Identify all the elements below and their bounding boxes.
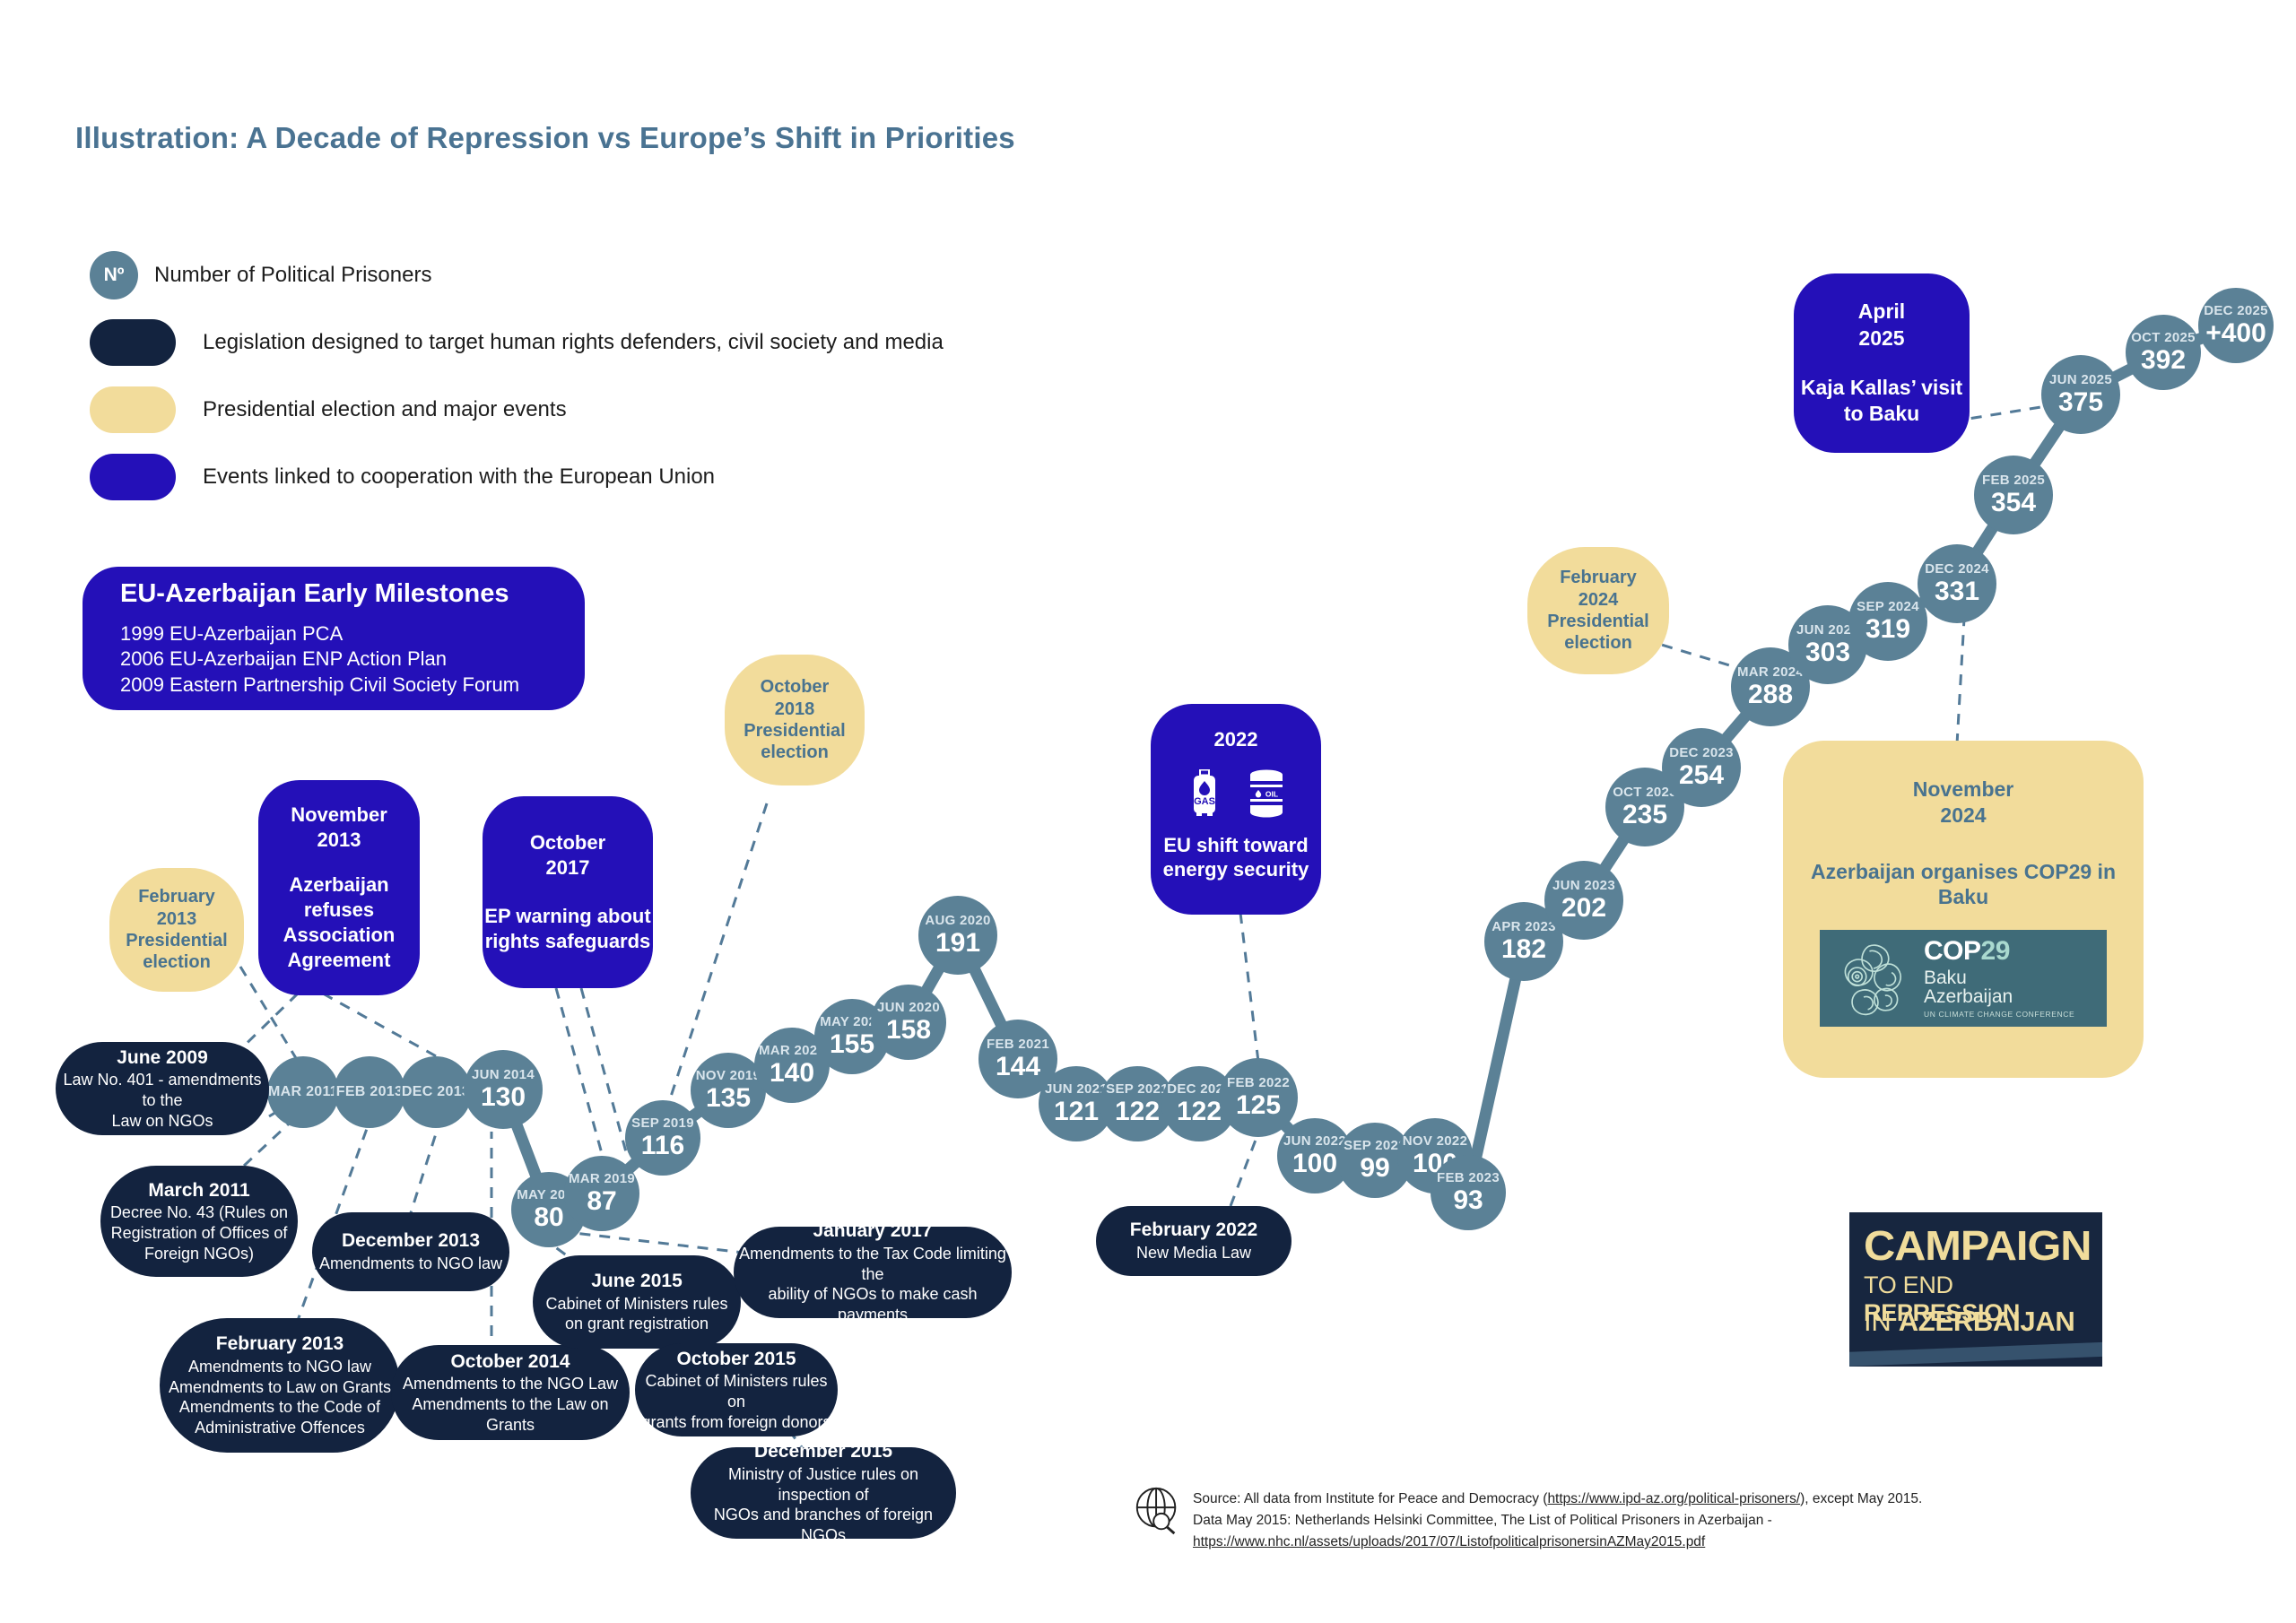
source-link-ipd[interactable]: https://www.ipd-az.org/political-prisone… [1547,1491,1800,1506]
card-date-line1: February [138,886,215,907]
node-date: NOV 2019 [696,1069,761,1082]
legislation-title: December 2015 [754,1440,892,1463]
node-date: SEP 2024 [1857,600,1919,613]
node-value: +400 [2205,320,2266,347]
data-node-mar-2019: MAR 201987 [564,1156,639,1231]
legend-label-prisoners: Number of Political Prisoners [154,263,431,288]
card-october-2015: October 2015 Cabinet of Ministers rules … [635,1343,838,1436]
node-value: 202 [1561,895,1606,922]
node-date: MAR 2019 [569,1172,635,1185]
legislation-line-1: Decree No. 43 (Rules on [110,1202,288,1223]
node-value: 122 [1115,1098,1160,1125]
card-body-line2: Association [283,923,396,948]
eu-milestone-line-1: 1999 EU-Azerbaijan PCA [120,621,343,647]
legislation-line-2: Registration of Offices of [111,1223,288,1244]
card-date-line2: 2017 [546,855,590,881]
node-date: JUN 2020 [877,1001,940,1014]
node-value: 135 [706,1085,751,1112]
node-date: NOV 2022 [1403,1134,1467,1148]
node-value: 354 [1991,490,2036,516]
page-title: Illustration: A Decade of Repression vs … [75,121,1015,155]
node-date: JUN 2022 [1283,1134,1346,1148]
legislation-line-2: Amendments to Law on Grants [169,1377,391,1398]
node-value: 80 [534,1204,563,1231]
node-date: MAR 2024 [1737,665,1804,679]
card-date-line1: October [761,676,830,698]
card-feb-2024-election: February 2024 Presidential election [1527,547,1669,674]
legislation-line-4: Administrative Offences [195,1418,365,1438]
node-value: 331 [1935,578,1979,605]
legislation-title: October 2014 [450,1350,570,1374]
node-value: 125 [1236,1092,1281,1119]
data-node-mar-2011: MAR 2011 [267,1056,339,1128]
eu-milestones-title: EU-Azerbaijan Early Milestones [120,579,509,609]
node-value: 130 [481,1084,526,1111]
card-date-line1: October [530,830,605,855]
legislation-title: March 2011 [148,1179,249,1202]
node-date: OCT 2025 [2131,331,2196,344]
legislation-title: June 2015 [591,1270,683,1293]
card-body-line2: election [143,951,211,973]
oil-barrel-icon: OIL [1247,768,1286,819]
legend-label-legislation: Legislation designed to target human rig… [203,330,944,355]
node-date: FEB 2022 [1227,1076,1290,1089]
legislation-title: June 2009 [117,1046,208,1070]
legislation-line-1: Amendments to the Tax Code limiting the [734,1244,1012,1284]
node-value: 155 [830,1031,874,1058]
card-december-2013: December 2013 Amendments to NGO law [312,1212,509,1291]
data-node-sep-2019: SEP 2019116 [625,1100,700,1176]
data-node-jun-2020: JUN 2020158 [871,985,946,1060]
data-node-jun-2014: JUN 2014130 [464,1050,543,1129]
node-value: 87 [587,1188,616,1215]
node-value: 99 [1360,1155,1389,1182]
cop29-emblem-icon [1832,940,1915,1017]
legend-item-eu: Events linked to cooperation with the Eu… [90,448,944,506]
campaign-line-1: CAMPAIGN [1864,1221,2091,1270]
card-date-line2: 2013 [157,908,197,930]
card-nov-2024-cop29: November 2024 Azerbaijan organises COP29… [1783,741,2144,1078]
legislation-line-1: Amendments to NGO law [188,1357,371,1377]
card-december-2015: December 2015 Ministry of Justice rules … [691,1447,956,1539]
card-body-line1: Presidential [1547,611,1648,632]
node-value: 121 [1054,1098,1099,1125]
node-value: 100 [1292,1150,1337,1177]
node-value: 375 [2058,389,2103,416]
card-body-line2: energy security [1163,857,1309,882]
card-june-2015: June 2015 Cabinet of Ministers rules on … [533,1255,741,1349]
card-date-line1: November [1913,777,2013,803]
cop29-logo: COP29 Baku Azerbaijan UN CLIMATE CHANGE … [1820,930,2107,1027]
card-body-line2: election [761,742,829,763]
source-line-2: Data May 2015: Netherlands Helsinki Comm… [1193,1510,2090,1553]
data-node-dec-2023: DEC 2023254 [1662,728,1741,807]
yellow-pill-icon [90,386,176,433]
source-line-1: Source: All data from Institute for Peac… [1193,1488,2090,1510]
legislation-title: January 2017 [813,1219,932,1243]
campaign-stripe [1849,1341,2102,1367]
legend: Nº Number of Political Prisoners Legisla… [90,247,944,516]
legislation-title: February 2013 [216,1332,344,1356]
card-body-line1: Kaja Kallas’ visit [1801,375,1962,401]
legislation-title: February 2022 [1130,1219,1257,1242]
node-value: 140 [770,1060,814,1087]
cop29-line2: Azerbaijan [1924,987,2074,1006]
node-value: 303 [1805,639,1850,666]
legislation-line-2: Amendments to the Law on Grants [391,1394,630,1435]
legislation-line-3: Foreign NGOs) [144,1244,254,1264]
card-oct-2017-ep-warning: October 2017 EP warning about rights saf… [483,796,653,988]
node-date: DEC 2025 [2204,304,2268,317]
data-node-oct-2025: OCT 2025392 [2126,315,2201,390]
legend-item-legislation: Legislation designed to target human rig… [90,314,944,371]
node-value: 191 [935,930,980,957]
card-february-2013: February 2013 Amendments to NGO law Amen… [160,1318,400,1453]
node-date: FEB 2023 [1437,1171,1500,1185]
node-date: DEC 2013 [402,1085,470,1099]
legend-label-eu: Events linked to cooperation with the Eu… [203,464,715,490]
node-value: 319 [1865,616,1910,643]
data-node-feb-2023: FEB 202393 [1431,1155,1506,1230]
node-date: APR 2023 [1492,920,1556,933]
card-january-2017: January 2017 Amendments to the Tax Code … [734,1227,1012,1318]
legend-label-elections: Presidential election and major events [203,397,567,422]
node-value: 158 [886,1017,931,1044]
legislation-line-2: grants from foreign donors [641,1412,831,1433]
node-value: 116 [641,1133,684,1159]
card-date-line1: 2022 [1214,727,1258,752]
card-body-line3: Agreement [288,948,391,973]
legislation-line-3: Amendments to the Code of [179,1397,380,1418]
legislation-line-2: NGOs and branches of foreign NGOs [691,1505,956,1545]
node-date: JUN 2023 [1552,879,1615,892]
card-date-line2: 2024 [1940,803,1986,829]
node-date: JUN 2025 [2049,373,2112,386]
card-2022-eu-energy: 2022 GAS OIL EU shift tow [1151,704,1321,915]
legend-item-prisoners: Nº Number of Political Prisoners [90,247,944,304]
data-node-feb-2013: FEB 2013 [334,1056,405,1128]
globe-search-icon [1132,1485,1184,1537]
data-node-dec-2013: DEC 2013 [400,1056,472,1128]
legislation-line-2: ability of NGOs to make cash payments [734,1284,1012,1324]
legislation-line-1: Cabinet of Ministers rules [545,1294,727,1315]
node-date: JUN 2014 [472,1068,535,1081]
number-circle-icon: Nº [90,251,138,299]
node-value: 122 [1177,1098,1222,1125]
card-october-2014: October 2014 Amendments to the NGO Law A… [391,1345,630,1440]
data-node-dec-2024: DEC 2024331 [1918,544,1996,623]
node-date: AUG 2020 [925,914,990,927]
node-date: FEB 2021 [987,1037,1049,1051]
node-value: 254 [1679,762,1724,789]
campaign-line-3: IN AZERBAIJAN [1864,1306,2075,1338]
card-date-line2: 2024 [1578,589,1619,611]
card-date-line1: November [291,803,387,828]
legislation-title: October 2015 [676,1348,796,1371]
eu-milestone-line-2: 2006 EU-Azerbaijan ENP Action Plan [120,647,447,673]
data-node-aug-2020: AUG 2020191 [918,896,997,975]
node-value: 235 [1622,802,1667,829]
node-date: JUN 2021 [1045,1082,1108,1096]
card-oct-2018-election: October 2018 Presidential election [725,655,865,785]
data-node-sep-2024: SEP 2024319 [1848,582,1927,661]
data-node-dec-2025: DEC 2025+400 [2198,288,2274,363]
node-date: SEP 2019 [631,1116,694,1130]
legend-item-elections: Presidential election and major events [90,381,944,438]
card-date-line2: 2018 [775,699,815,720]
card-apr-2025-kallas-visit: April 2025 Kaja Kallas’ visit to Baku [1794,273,1970,453]
card-february-2022: February 2022 New Media Law [1096,1206,1291,1276]
card-body-line1: Presidential [126,930,227,951]
card-body-line2: to Baku [1844,401,1919,427]
legislation-line-1: Cabinet of Ministers rules on [635,1371,838,1411]
card-date-line2: 2013 [317,828,361,853]
legislation-line-1: Ministry of Justice rules on inspection … [691,1464,956,1505]
eu-milestones-card: EU-Azerbaijan Early Milestones 1999 EU-A… [83,567,585,710]
node-value: 182 [1501,936,1546,963]
data-node-feb-2022: FEB 2022125 [1219,1058,1298,1137]
card-feb-2013-election: February 2013 Presidential election [109,868,244,992]
legislation-line-1: Amendments to the NGO Law [403,1374,618,1394]
svg-text:GAS: GAS [1194,796,1215,807]
card-body-line1: Azerbaijan organises COP29 in Baku [1783,859,2144,911]
node-date: SEP 2021 [1106,1082,1169,1096]
source-link-nhc[interactable]: https://www.nhc.nl/assets/uploads/2017/0… [1193,1534,1705,1549]
svg-text:OIL: OIL [1265,789,1278,798]
node-value: 288 [1748,681,1793,708]
legislation-line-2: Law on NGOs [111,1111,213,1132]
node-date: DEC 2023 [1669,746,1734,759]
node-value: 392 [2141,347,2186,374]
blue-pill-icon [90,454,176,500]
dark-pill-icon [90,319,176,366]
card-june-2009: June 2009 Law No. 401 - amendments to th… [56,1042,269,1135]
card-date-line1: February [1560,567,1637,588]
eu-milestone-line-3: 2009 Eastern Partnership Civil Society F… [120,673,519,699]
legislation-line-2: on grant registration [565,1314,709,1334]
card-body-line1: Presidential [744,720,845,742]
legislation-line-1: New Media Law [1136,1243,1251,1263]
legislation-title: December 2013 [342,1229,480,1253]
node-date: MAR 2011 [268,1085,338,1099]
node-date: FEB 2025 [1982,473,2045,487]
card-march-2011: March 2011 Decree No. 43 (Rules on Regis… [100,1166,298,1277]
source-footnote: Source: All data from Institute for Peac… [1193,1488,2090,1553]
node-value: 93 [1453,1187,1483,1214]
legend-symbol: Nº [104,265,125,286]
energy-icons: GAS OIL [1186,768,1286,819]
legislation-line-1: Law No. 401 - amendments to the [56,1070,269,1110]
node-date: FEB 2013 [336,1085,403,1099]
data-node-jun-2023: JUN 2023202 [1544,861,1623,940]
cop29-line1: Baku [1924,968,2074,987]
data-node-jun-2025: JUN 2025375 [2041,355,2120,434]
card-body-line2: election [1564,632,1632,654]
card-date-line2: 2025 [1858,325,1904,352]
card-date-line1: April [1858,299,1905,325]
campaign-logo: CAMPAIGN TO END REPRESSION IN AZERBAIJAN [1849,1212,2102,1367]
legislation-line-1: Amendments to NGO law [319,1254,502,1274]
gas-cylinder-icon: GAS [1186,768,1223,819]
node-date: DEC 2024 [1925,562,1989,576]
card-body-line1: EU shift toward [1163,833,1308,858]
card-body-line1: Azerbaijan refuses [258,872,420,923]
node-value: 144 [996,1054,1040,1081]
card-nov-2013-association: November 2013 Azerbaijan refuses Associa… [258,780,420,995]
card-body-line1: EP warning about [484,904,650,929]
card-body-line2: rights safeguards [485,929,651,954]
cop29-subtitle: UN CLIMATE CHANGE CONFERENCE [1924,1011,2074,1019]
cop29-title: COP29 [1924,938,2074,965]
data-node-feb-2025: FEB 2025354 [1974,456,2053,534]
